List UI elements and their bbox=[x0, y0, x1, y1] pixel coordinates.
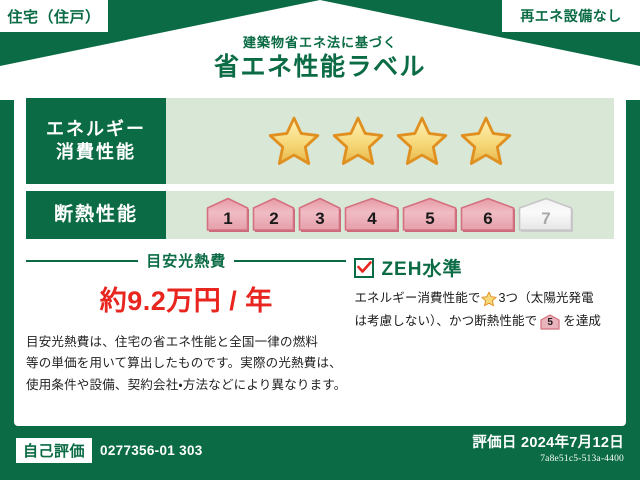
insulation-label-line1: 断熱性能 bbox=[54, 203, 138, 228]
insulation-grade-value: 3 bbox=[315, 209, 324, 233]
zeh-heading: ZEH水準 bbox=[354, 254, 614, 281]
page-title: 省エネ性能ラベル bbox=[0, 52, 640, 83]
renewable-equipment-tag: 再エネ設備なし bbox=[502, 0, 640, 32]
insulation-grade-scale: 1234567 bbox=[206, 197, 574, 233]
zeh-block: ZEH水準 エネルギー消費性能で 3つ（太陽光発電 は考慮しない）、かつ断熱性能… bbox=[346, 246, 614, 396]
insulation-grade-4: 4 bbox=[344, 197, 400, 233]
star-icon bbox=[267, 115, 321, 167]
utility-cost-amount: 約9.2万円 / 年 bbox=[26, 279, 346, 318]
header-titles: 建築物省エネ法に基づく 省エネ性能ラベル bbox=[0, 36, 640, 84]
building-type-tag: 住宅（住戸） bbox=[0, 0, 108, 32]
insulation-performance-value: 1234567 bbox=[166, 191, 614, 239]
cost-note-line1: 目安光熱費は、住宅の省エネ性能と全国一律の燃料 bbox=[26, 332, 346, 353]
insulation-performance-row: 断熱性能 1234567 bbox=[26, 191, 614, 239]
utility-cost-block: 目安光熱費 約9.2万円 / 年 目安光熱費は、住宅の省エネ性能と全国一律の燃料… bbox=[26, 246, 346, 396]
insulation-grade-5: 5 bbox=[402, 197, 458, 233]
utility-cost-note: 目安光熱費は、住宅の省エネ性能と全国一律の燃料 等の単価を用いて算出したものです… bbox=[26, 332, 346, 396]
star-rating bbox=[267, 115, 513, 167]
energy-label-line1: エネルギー bbox=[46, 118, 146, 141]
evaluation-date: 評価日 2024年7月12日 bbox=[472, 434, 624, 453]
insulation-performance-label: 断熱性能 bbox=[26, 191, 166, 239]
insulation-grade-6: 6 bbox=[460, 197, 516, 233]
insulation-grade-2: 2 bbox=[252, 197, 296, 233]
energy-performance-label: エネルギー 消費性能 bbox=[26, 98, 166, 184]
star-icon bbox=[395, 115, 449, 167]
insulation-grade-inline-icon: 5 bbox=[540, 314, 560, 330]
evaluation-uuid: 7a8e51c5-513a-4400 bbox=[472, 453, 624, 465]
star-icon bbox=[459, 115, 513, 167]
energy-performance-value bbox=[166, 98, 614, 184]
label-card: エネルギー 消費性能 断熱性能 1234567 目安光熱費 bbox=[14, 88, 626, 426]
check-icon bbox=[357, 261, 372, 274]
insulation-grade-7: 7 bbox=[518, 197, 574, 233]
zeh-desc-line1: エネルギー消費性能で 3つ（太陽光発電 bbox=[354, 287, 614, 310]
insulation-grade-value: 2 bbox=[269, 209, 278, 233]
energy-performance-label: 住宅（住戸） 再エネ設備なし 建築物省エネ法に基づく 省エネ性能ラベル エネルギ… bbox=[0, 0, 640, 480]
insulation-grade-value: 4 bbox=[367, 209, 376, 233]
insulation-grade-3: 3 bbox=[298, 197, 342, 233]
self-evaluation-badge: 自己評価 bbox=[16, 438, 92, 463]
insulation-grade-1: 1 bbox=[206, 197, 250, 233]
utility-cost-heading: 目安光熱費 bbox=[26, 250, 346, 271]
zeh-desc-line2: は考慮しない）、かつ断熱性能で 5 を達成 bbox=[354, 310, 614, 333]
insulation-grade-value: 6 bbox=[483, 209, 492, 233]
energy-performance-row: エネルギー 消費性能 bbox=[26, 98, 614, 184]
energy-label-line2: 消費性能 bbox=[56, 141, 136, 164]
evaluation-number: 0277356-01 303 bbox=[100, 443, 203, 458]
insulation-grade-inline-value: 5 bbox=[547, 318, 553, 330]
zeh-desc-line1-b: 3つ（太陽光発電 bbox=[498, 287, 593, 310]
label-subtitle: 建築物省エネ法に基づく bbox=[0, 36, 640, 50]
star-icon bbox=[331, 115, 385, 167]
cost-note-line3: 使用条件や設備、契約会社・方法などにより異なります。 bbox=[26, 375, 346, 396]
zeh-title: ZEH水準 bbox=[381, 254, 462, 281]
zeh-description: エネルギー消費性能で 3つ（太陽光発電 は考慮しない）、かつ断熱性能で 5 bbox=[354, 287, 614, 333]
star-icon bbox=[481, 291, 497, 307]
cost-note-line2: 等の単価を用いて算出したものです。実際の光熱費は、 bbox=[26, 353, 346, 374]
lower-section: 目安光熱費 約9.2万円 / 年 目安光熱費は、住宅の省エネ性能と全国一律の燃料… bbox=[26, 246, 614, 396]
footer-right: 評価日 2024年7月12日 7a8e51c5-513a-4400 bbox=[472, 434, 624, 465]
insulation-grade-value: 1 bbox=[223, 209, 232, 233]
rule-left bbox=[26, 260, 138, 262]
zeh-desc-line1-a: エネルギー消費性能で bbox=[354, 287, 480, 310]
footer-left: 自己評価 0277356-01 303 bbox=[16, 438, 203, 463]
footer: 自己評価 0277356-01 303 評価日 2024年7月12日 7a8e5… bbox=[0, 426, 640, 480]
utility-cost-title: 目安光熱費 bbox=[146, 250, 226, 271]
zeh-desc-line2-a: は考慮しない）、かつ断熱性能で bbox=[354, 310, 537, 333]
insulation-grade-value: 7 bbox=[541, 209, 550, 233]
zeh-desc-line2-b: を達成 bbox=[563, 310, 601, 333]
zeh-checkbox bbox=[354, 258, 374, 278]
rule-right bbox=[234, 260, 346, 262]
insulation-grade-value: 5 bbox=[425, 209, 434, 233]
